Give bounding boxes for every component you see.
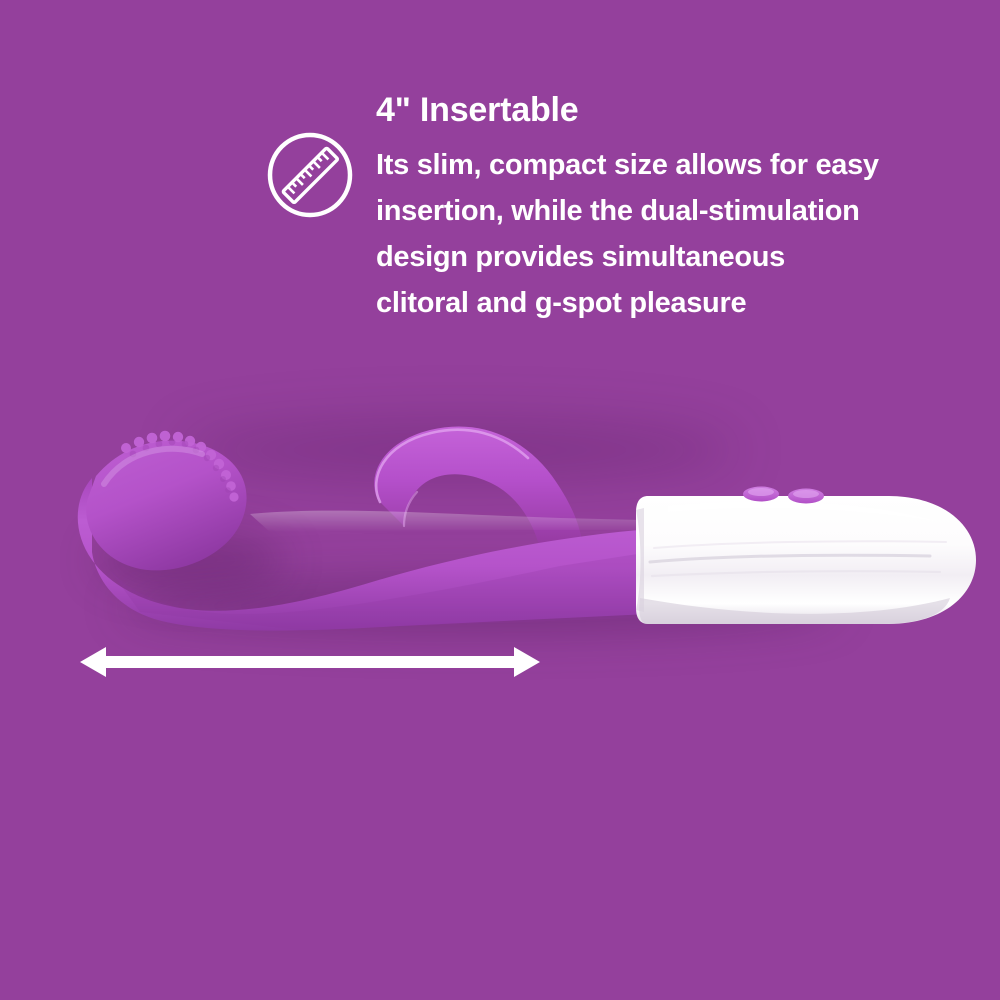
- feature-description: Its slim, compact size allows for easy i…: [376, 142, 996, 326]
- product-photo: [0, 380, 1000, 680]
- feature-description-line: insertion, while the dual-stimulation: [376, 188, 996, 234]
- feature-description-line: Its slim, compact size allows for easy: [376, 142, 996, 188]
- insertable-length-arrow: [80, 645, 540, 679]
- feature-description-line: clitoral and g-spot pleasure: [376, 280, 996, 326]
- feature-description-line: design provides simultaneous: [376, 234, 996, 280]
- feature-callout: 4" Insertable Its slim, compact size all…: [0, 0, 1000, 360]
- ruler-icon: [266, 131, 354, 219]
- product-feature-image: 4" Insertable Its slim, compact size all…: [0, 0, 1000, 1000]
- feature-title: 4" Insertable: [376, 88, 579, 132]
- handle: [636, 487, 976, 625]
